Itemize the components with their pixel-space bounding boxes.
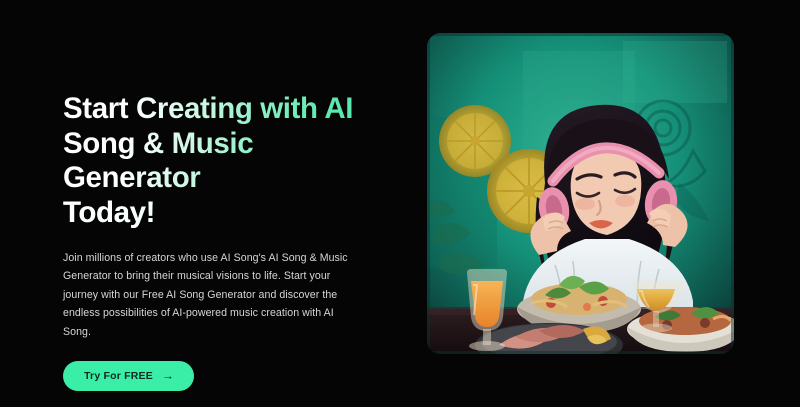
page-title: Start Creating with AISong & Music Gener… — [63, 92, 383, 230]
hero-illustration — [427, 33, 734, 354]
headline-line-2: Song & Music Generator — [63, 127, 253, 195]
try-for-free-label: Try For FREE — [84, 371, 153, 382]
hero-section: Start Creating with AISong & Music Gener… — [0, 0, 800, 407]
arrow-right-icon: → — [162, 370, 174, 382]
headline-line-1: Start Creating with AI — [63, 92, 353, 125]
hero-subcopy: Join millions of creators who use AI Son… — [63, 249, 359, 341]
try-for-free-button[interactable]: Try For FREE → — [63, 361, 194, 391]
hero-illustration-artwork — [427, 33, 734, 354]
hero-copy-column: Start Creating with AISong & Music Gener… — [63, 92, 383, 391]
headline-line-3: Today! — [63, 196, 155, 229]
